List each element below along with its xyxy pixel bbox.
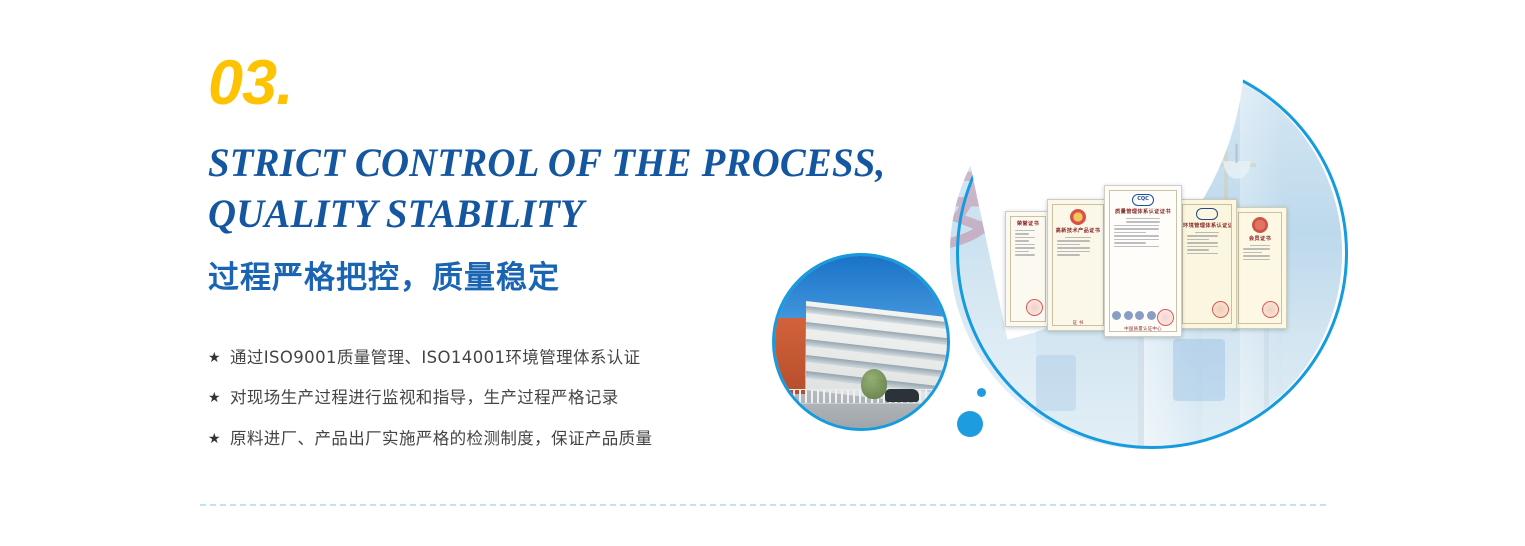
certificate-footer: 中国质量认证中心 bbox=[1105, 326, 1181, 332]
dashed-divider bbox=[200, 504, 1326, 506]
fence bbox=[775, 389, 947, 404]
star-icon: ★ bbox=[208, 432, 221, 446]
certificate-card: 荣誉证书 bbox=[1005, 211, 1051, 327]
seal-icon bbox=[1262, 301, 1279, 318]
certificate-title: 会员证书 bbox=[1239, 235, 1281, 242]
certificate-title: 质量管理体系认证证书 bbox=[1110, 208, 1176, 215]
cqc-logo-icon: CQC bbox=[1132, 194, 1154, 206]
emblem-icon bbox=[1252, 217, 1268, 233]
seal-icon bbox=[1026, 299, 1043, 316]
parked-car bbox=[885, 389, 919, 402]
certificate-card: 会员证书 bbox=[1233, 207, 1287, 329]
star-icon: ★ bbox=[208, 391, 221, 405]
seal-icon bbox=[1212, 301, 1229, 318]
certificate-card: 环境管理体系认证证书 bbox=[1177, 199, 1237, 329]
list-item-label: 原料进厂、产品出厂实施严格的检测制度，保证产品质量 bbox=[230, 426, 653, 452]
certificate-card: CQC 质量管理体系认证证书 中国质量认证中心 bbox=[1104, 185, 1182, 337]
certificate-title: 荣誉证书 bbox=[1011, 220, 1045, 227]
blue-dot-small-icon bbox=[977, 388, 986, 397]
promo-banner: 03. STRICT CONTROL OF THE PROCESS, QUALI… bbox=[0, 0, 1525, 546]
page-title: STRICT CONTROL OF THE PROCESS, QUALITY S… bbox=[208, 137, 945, 239]
certificate-card: 高新技术产品证书 证 书 bbox=[1047, 199, 1109, 331]
emblem-icon bbox=[1070, 209, 1086, 225]
certificate-title: 环境管理体系认证证书 bbox=[1183, 222, 1231, 229]
list-item-label: 对现场生产过程进行监视和指导，生产过程严格记录 bbox=[230, 385, 619, 411]
list-item-label: 通过ISO9001质量管理、ISO14001环境管理体系认证 bbox=[230, 345, 641, 371]
star-icon: ★ bbox=[208, 351, 221, 365]
blue-dot-large-icon bbox=[957, 411, 983, 437]
certificate-footer: 证 书 bbox=[1048, 320, 1108, 326]
tree bbox=[861, 369, 887, 399]
certificates-circle: 安全 荣誉证书 bbox=[950, 57, 1342, 449]
seal-icon bbox=[1157, 309, 1174, 326]
certification-logo-icon bbox=[1196, 208, 1218, 220]
certificate-title: 高新技术产品证书 bbox=[1053, 227, 1103, 234]
building-circle bbox=[772, 253, 950, 431]
section-number: 03. bbox=[208, 52, 968, 115]
adjacent-building bbox=[772, 318, 805, 394]
